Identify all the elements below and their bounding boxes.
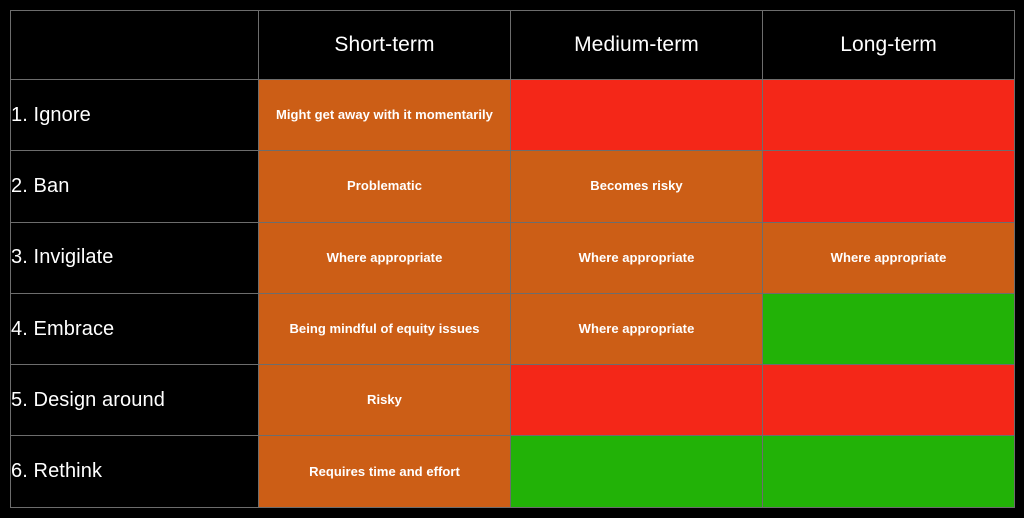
- cell-ignore-short-term: Might get away with it momentarily: [259, 80, 511, 151]
- table-row: 3. Invigilate Where appropriate Where ap…: [11, 222, 1015, 293]
- cell-embrace-medium-term: Where appropriate: [511, 293, 763, 364]
- cell-invigilate-long-term: Where appropriate: [763, 222, 1015, 293]
- cell-ban-long-term: [763, 151, 1015, 222]
- cell-text: Becomes risky: [511, 178, 762, 194]
- corner-cell: [11, 11, 259, 80]
- cell-invigilate-medium-term: Where appropriate: [511, 222, 763, 293]
- table-row: 4. Embrace Being mindful of equity issue…: [11, 293, 1015, 364]
- table-header-row: Short-term Medium-term Long-term: [11, 11, 1015, 80]
- cell-ignore-long-term: [763, 80, 1015, 151]
- cell-text: Might get away with it momentarily: [259, 107, 510, 123]
- cell-text: Where appropriate: [511, 250, 762, 266]
- cell-invigilate-short-term: Where appropriate: [259, 222, 511, 293]
- column-header-long-term: Long-term: [763, 11, 1015, 80]
- cell-rethink-short-term: Requires time and effort: [259, 436, 511, 507]
- row-label-invigilate: 3. Invigilate: [11, 222, 259, 293]
- table-row: 1. Ignore Might get away with it momenta…: [11, 80, 1015, 151]
- cell-ban-medium-term: Becomes risky: [511, 151, 763, 222]
- column-header-short-term: Short-term: [259, 11, 511, 80]
- table-row: 6. Rethink Requires time and effort: [11, 436, 1015, 507]
- cell-rethink-long-term: [763, 436, 1015, 507]
- cell-text: Being mindful of equity issues: [259, 321, 510, 337]
- cell-text: Where appropriate: [259, 250, 510, 266]
- column-header-medium-term: Medium-term: [511, 11, 763, 80]
- row-label-design-around: 5. Design around: [11, 365, 259, 436]
- cell-design-around-long-term: [763, 365, 1015, 436]
- table-body: 1. Ignore Might get away with it momenta…: [11, 80, 1015, 508]
- cell-text: Risky: [259, 392, 510, 408]
- cell-embrace-long-term: [763, 293, 1015, 364]
- cell-embrace-short-term: Being mindful of equity issues: [259, 293, 511, 364]
- row-label-ignore: 1. Ignore: [11, 80, 259, 151]
- cell-text: Where appropriate: [763, 250, 1014, 266]
- cell-text: Where appropriate: [511, 321, 762, 337]
- row-label-rethink: 6. Rethink: [11, 436, 259, 507]
- row-label-ban: 2. Ban: [11, 151, 259, 222]
- cell-rethink-medium-term: [511, 436, 763, 507]
- cell-ban-short-term: Problematic: [259, 151, 511, 222]
- slide-canvas: Short-term Medium-term Long-term 1. Igno…: [0, 0, 1024, 518]
- cell-design-around-medium-term: [511, 365, 763, 436]
- strategy-timeframe-matrix: Short-term Medium-term Long-term 1. Igno…: [10, 10, 1015, 508]
- cell-text: Problematic: [259, 178, 510, 194]
- cell-ignore-medium-term: [511, 80, 763, 151]
- row-label-embrace: 4. Embrace: [11, 293, 259, 364]
- table-row: 5. Design around Risky: [11, 365, 1015, 436]
- cell-design-around-short-term: Risky: [259, 365, 511, 436]
- cell-text: Requires time and effort: [259, 464, 510, 480]
- table-row: 2. Ban Problematic Becomes risky: [11, 151, 1015, 222]
